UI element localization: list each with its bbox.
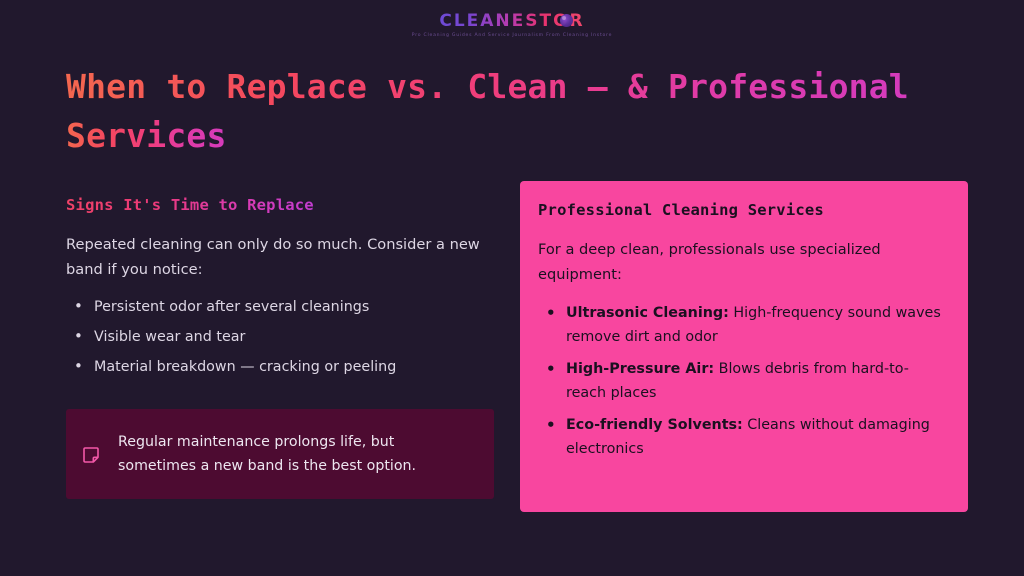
right-panel: Professional Cleaning Services For a dee… [520,181,968,512]
brand-tagline: Pro Cleaning Guides And Service Journali… [0,33,1024,38]
right-panel-bullet-list: Ultrasonic Cleaning: High-frequency soun… [538,301,946,461]
brand-logo[interactable]: CLEANESTOR Pro Cleaning Guides And Servi… [0,11,1024,38]
slide-canvas: CLEANESTOR Pro Cleaning Guides And Servi… [0,0,1024,576]
list-item: Ultrasonic Cleaning: High-frequency soun… [538,301,946,349]
page-title-line-1: When to Replace vs. Clean — & Profession… [66,62,909,111]
list-item: High-Pressure Air: Blows debris from har… [538,357,946,405]
left-column-paragraph: Repeated cleaning can only do so much. C… [66,232,481,282]
sticky-note-icon [82,446,100,464]
page-title-line-2: Services [66,111,227,160]
list-item-term: High-Pressure Air: [566,361,714,377]
list-item-term: Eco-friendly Solvents: [566,417,743,433]
callout-line-1: Regular maintenance prolongs life, but [118,434,394,450]
right-panel-paragraph: For a deep clean, professionals use spec… [538,237,938,287]
brand-logo-mark: CLEANESTOR [439,13,584,30]
page-title: When to Replace vs. Clean — & Profession… [66,62,946,160]
left-column: Signs It's Time to Replace Repeated clea… [66,196,496,386]
list-item: Visible wear and tear [66,326,496,348]
left-column-heading: Signs It's Time to Replace [66,196,314,214]
callout-text: Regular maintenance prolongs life, but s… [118,430,416,478]
list-item-term: Ultrasonic Cleaning: [566,305,729,321]
right-panel-heading: Professional Cleaning Services [538,201,946,219]
callout-line-2: sometimes a new band is the best option. [118,458,416,474]
list-item: Eco-friendly Solvents: Cleans without da… [538,413,946,461]
brand-name: CLEANESTOR [439,13,584,30]
callout-box: Regular maintenance prolongs life, but s… [66,409,494,499]
left-column-bullet-list: Persistent odor after several cleanings … [66,296,496,378]
list-item: Material breakdown — cracking or peeling [66,356,496,378]
list-item: Persistent odor after several cleanings [66,296,496,318]
